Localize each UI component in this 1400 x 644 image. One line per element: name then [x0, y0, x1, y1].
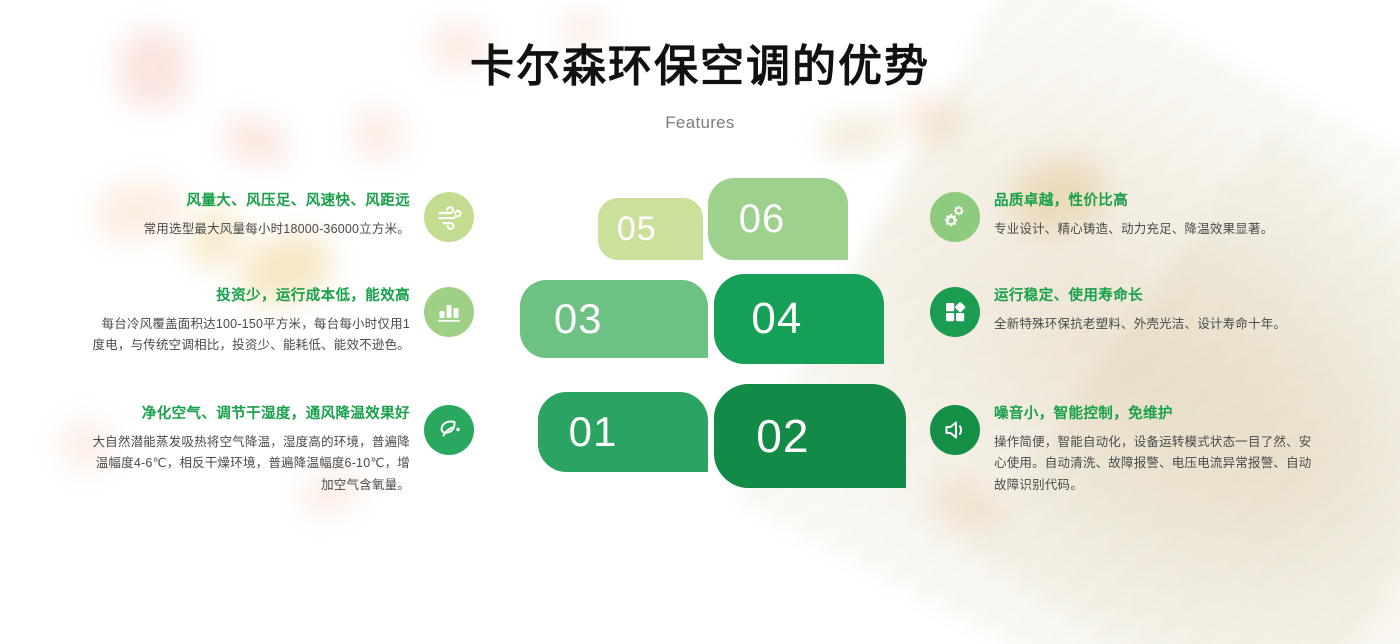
page-subtitle: Features — [0, 93, 1400, 133]
feature-title: 运行稳定、使用寿命长 — [994, 287, 1314, 307]
blocks-icon[interactable] — [930, 287, 980, 337]
feature-text: 运行稳定、使用寿命长 全新特殊环保抗老塑料、外壳光洁、设计寿命十年。 — [980, 287, 1314, 335]
gears-icon[interactable] — [930, 192, 980, 242]
leaf-glyph — [435, 416, 463, 444]
feature-text: 品质卓越，性价比高 专业设计、精心铸造、动力充足、降温效果显著。 — [980, 192, 1314, 240]
leaf-number: 05 — [598, 210, 657, 249]
feature-title: 噪音小，智能控制，免维护 — [994, 405, 1314, 425]
feature-05: 风量大、风压足、风速快、风距远 常用选型最大风量每小时18000-36000立方… — [90, 192, 474, 242]
leaf-cluster: 05 06 03 04 01 02 — [520, 170, 890, 550]
feature-title: 品质卓越，性价比高 — [994, 192, 1314, 212]
feature-desc: 全新特殊环保抗老塑料、外壳光洁、设计寿命十年。 — [994, 314, 1314, 336]
leaf-icon[interactable] — [424, 405, 474, 455]
feature-01: 净化空气、调节干湿度，通风降温效果好 大自然潜能蒸发吸热将空气降温，湿度高的环境… — [90, 405, 474, 497]
leaf-number: 04 — [714, 294, 802, 344]
feature-06: 品质卓越，性价比高 专业设计、精心铸造、动力充足、降温效果显著。 — [930, 192, 1314, 242]
feature-desc: 操作简便，智能自动化，设备运转模式状态一目了然、安心使用。自动清洗、故障报警、电… — [994, 432, 1314, 498]
leaf-number: 01 — [538, 408, 617, 456]
feature-desc: 每台冷风覆盖面积达100-150平方米，每台每小时仅用1度电，与传统空调相比，投… — [90, 314, 410, 358]
bar-chart-icon[interactable] — [424, 287, 474, 337]
header: 卡尔森环保空调的优势 Features — [0, 0, 1400, 133]
feature-title: 风量大、风压足、风速快、风距远 — [90, 192, 410, 212]
feature-title: 净化空气、调节干湿度，通风降温效果好 — [90, 405, 410, 425]
gears-glyph — [941, 203, 969, 231]
speaker-icon[interactable] — [930, 405, 980, 455]
feature-text: 净化空气、调节干湿度，通风降温效果好 大自然潜能蒸发吸热将空气降温，湿度高的环境… — [90, 405, 424, 497]
wind-glyph — [436, 204, 463, 231]
feature-desc: 常用选型最大风量每小时18000-36000立方米。 — [90, 219, 410, 241]
feature-04: 运行稳定、使用寿命长 全新特殊环保抗老塑料、外壳光洁、设计寿命十年。 — [930, 287, 1314, 337]
bar-chart-glyph — [435, 298, 463, 326]
leaf-05[interactable]: 05 — [598, 198, 703, 260]
feature-desc: 大自然潜能蒸发吸热将空气降温，湿度高的环境，普遍降温幅度4-6℃，相反干燥环境，… — [90, 432, 410, 498]
leaf-02[interactable]: 02 — [714, 384, 906, 488]
blocks-glyph — [941, 298, 969, 326]
wind-icon[interactable] — [424, 192, 474, 242]
leaf-04[interactable]: 04 — [714, 274, 884, 364]
feature-title: 投资少，运行成本低，能效高 — [90, 287, 410, 307]
leaf-06[interactable]: 06 — [708, 178, 848, 260]
leaf-number: 06 — [708, 197, 785, 242]
feature-text: 投资少，运行成本低，能效高 每台冷风覆盖面积达100-150平方米，每台每小时仅… — [90, 287, 424, 357]
feature-02: 噪音小，智能控制，免维护 操作简便，智能自动化，设备运转模式状态一目了然、安心使… — [930, 405, 1314, 497]
speaker-glyph — [941, 416, 969, 444]
feature-text: 噪音小，智能控制，免维护 操作简便，智能自动化，设备运转模式状态一目了然、安心使… — [980, 405, 1314, 497]
page-title: 卡尔森环保空调的优势 — [0, 0, 1400, 93]
leaf-01[interactable]: 01 — [538, 392, 708, 472]
leaf-03[interactable]: 03 — [520, 280, 708, 358]
feature-desc: 专业设计、精心铸造、动力充足、降温效果显著。 — [994, 219, 1314, 241]
feature-03: 投资少，运行成本低，能效高 每台冷风覆盖面积达100-150平方米，每台每小时仅… — [90, 287, 474, 357]
feature-text: 风量大、风压足、风速快、风距远 常用选型最大风量每小时18000-36000立方… — [90, 192, 424, 240]
leaf-number: 03 — [520, 295, 603, 343]
leaf-number: 02 — [714, 409, 809, 463]
